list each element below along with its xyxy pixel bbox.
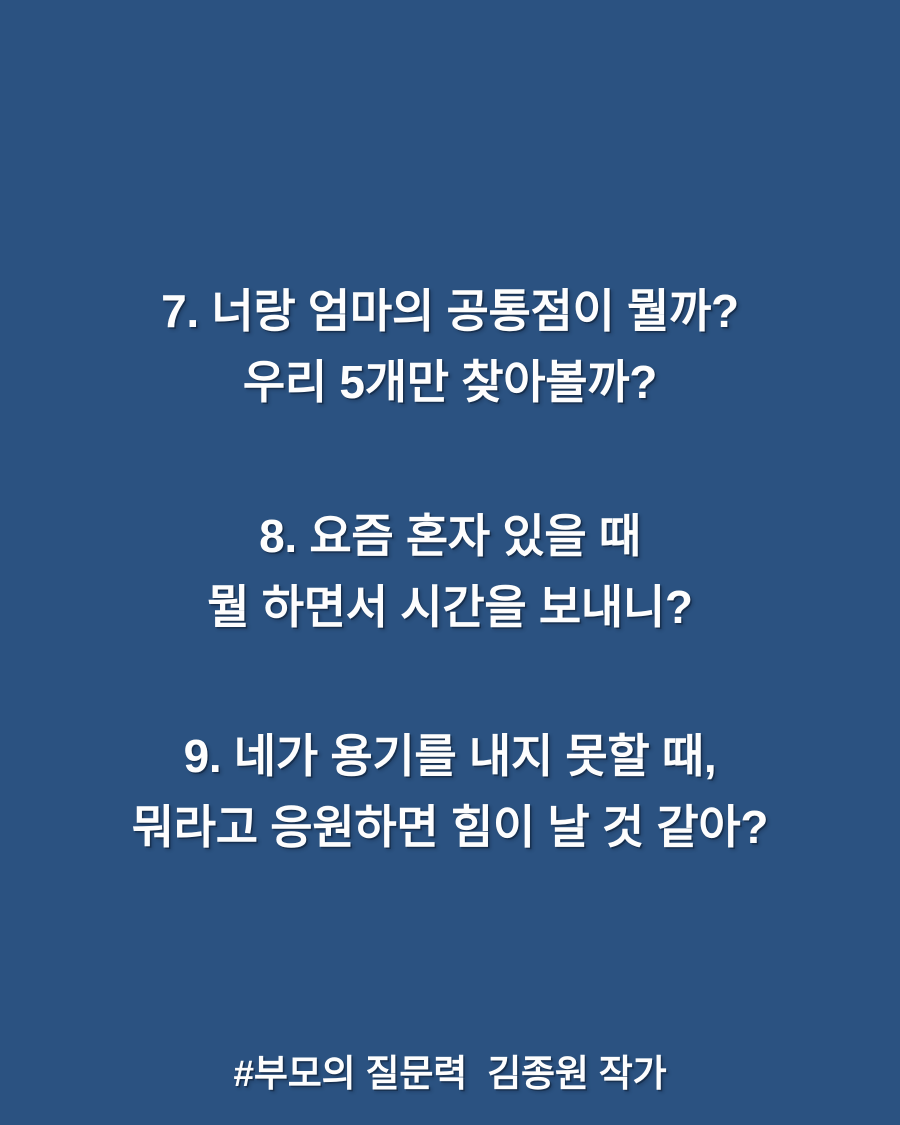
question-9-line-2: 뭐라고 응원하면 힘이 날 것 같아? [0,792,900,863]
question-8-line-1: 8. 요즘 혼자 있을 때 [0,501,900,572]
question-block-8: 8. 요즘 혼자 있을 때 뭘 하면서 시간을 보내니? [0,501,900,643]
question-7-line-2: 우리 5개만 찾아볼까? [0,347,900,418]
question-9-line-1: 9. 네가 용기를 내지 못할 때, [0,721,900,792]
footer-credit: #부모의 질문력 김종원 작가 [0,1049,900,1099]
question-card: 7. 너랑 엄마의 공통점이 뭘까? 우리 5개만 찾아볼까? 8. 요즘 혼자… [0,0,900,1125]
question-block-9: 9. 네가 용기를 내지 못할 때, 뭐라고 응원하면 힘이 날 것 같아? [0,721,900,863]
question-block-7: 7. 너랑 엄마의 공통점이 뭘까? 우리 5개만 찾아볼까? [0,276,900,418]
question-8-line-2: 뭘 하면서 시간을 보내니? [0,572,900,643]
question-7-line-1: 7. 너랑 엄마의 공통점이 뭘까? [0,276,900,347]
footer-credit-text: #부모의 질문력 김종원 작가 [234,1049,667,1099]
